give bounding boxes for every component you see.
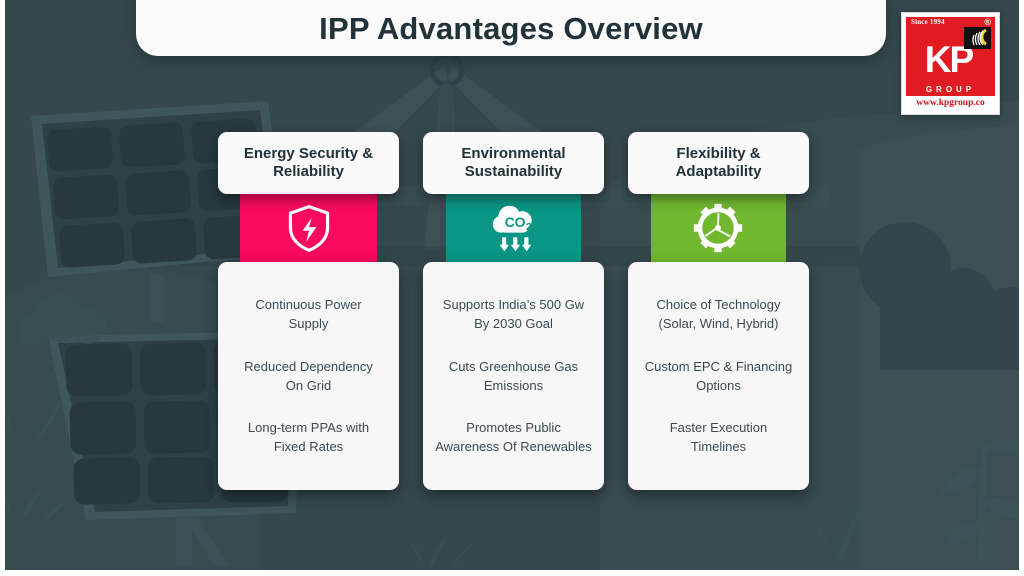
column-accent-band: CO 2 [446,194,581,262]
column-body-card: Choice of Technology (Solar, Wind, Hybri… [628,262,809,490]
column-accent-band [240,194,377,262]
gear-wind-turbine-icon [691,202,747,254]
list-item: Long-term PPAs with Fixed Rates [227,419,390,457]
advantage-column-flexibility-adaptability: Flexibility & Adaptability [628,132,809,490]
column-body-card: Continuous Power Supply Reduced Dependen… [218,262,399,490]
advantage-column-energy-security: Energy Security & Reliability Continuous… [218,132,399,490]
column-title-line1: Environmental [461,145,565,163]
advantage-columns: Energy Security & Reliability Continuous… [0,0,1024,576]
list-item: Promotes Public Awareness Of Renewables [432,419,595,457]
column-title-line2: Sustainability [461,163,565,181]
logo-group-text: GROUP [906,85,995,94]
list-item: Custom EPC & Financing Options [637,358,800,396]
bullet-line: Long-term PPAs with Fixed Rates [227,419,390,457]
column-title-line2: Adaptability [676,163,762,181]
sunrise-arc-icon [964,27,991,49]
bullet-line: Choice of Technology (Solar, Wind, Hybri… [637,296,800,334]
list-item: Reduced Dependency On Grid [227,358,390,396]
column-body-card: Supports India’s 500 Gw By 2030 Goal Cut… [423,262,604,490]
slide-border-right [1019,0,1024,576]
bullet-line: Cuts Greenhouse Gas Emissions [432,358,595,396]
logo-website-url: www.kpgroup.co [906,96,995,111]
bullet-line: Faster Execution Timelines [637,419,800,457]
kp-group-logo: Since 1994 ® KP GROUP www.kpgroup.co [901,12,1000,115]
logo-since-text: Since 1994 [911,18,945,26]
column-title-line2: Reliability [244,163,373,181]
title-banner: IPP Advantages Overview [136,0,886,56]
column-title-line1: Flexibility & [676,145,762,163]
bullet-line: Continuous Power Supply [227,296,390,334]
list-item: Supports India’s 500 Gw By 2030 Goal [432,296,595,334]
advantage-column-environmental-sustainability: Environmental Sustainability CO 2 [423,132,604,490]
list-item: Cuts Greenhouse Gas Emissions [432,358,595,396]
shield-lightning-icon [281,202,337,254]
column-header-card[interactable]: Environmental Sustainability [423,132,604,194]
svg-text:CO: CO [504,214,525,230]
registered-trademark-icon: ® [984,17,991,27]
list-item: Choice of Technology (Solar, Wind, Hybri… [637,296,800,334]
slide-border-bottom [0,570,1024,576]
column-accent-band [651,194,786,262]
slide-canvas: IPP Advantages Overview Since 1994 ® KP [0,0,1024,576]
column-header-card[interactable]: Energy Security & Reliability [218,132,399,194]
list-item: Faster Execution Timelines [637,419,800,457]
column-title: Energy Security & Reliability [244,145,373,182]
column-title: Environmental Sustainability [461,145,565,182]
bullet-line: Custom EPC & Financing Options [637,358,800,396]
slide-border-left [0,0,5,576]
page-title: IPP Advantages Overview [319,11,703,47]
svg-text:2: 2 [526,222,532,233]
column-header-card[interactable]: Flexibility & Adaptability [628,132,809,194]
bullet-line: Supports India’s 500 Gw By 2030 Goal [432,296,595,334]
bullet-line: Promotes Public Awareness Of Renewables [432,419,595,457]
co2-cloud-down-arrows-icon: CO 2 [486,202,542,254]
column-title-line1: Energy Security & [244,145,373,163]
list-item: Continuous Power Supply [227,296,390,334]
column-title: Flexibility & Adaptability [676,145,762,182]
logo-red-panel: Since 1994 ® KP GROUP [906,17,995,96]
bullet-line: Reduced Dependency On Grid [227,358,390,396]
